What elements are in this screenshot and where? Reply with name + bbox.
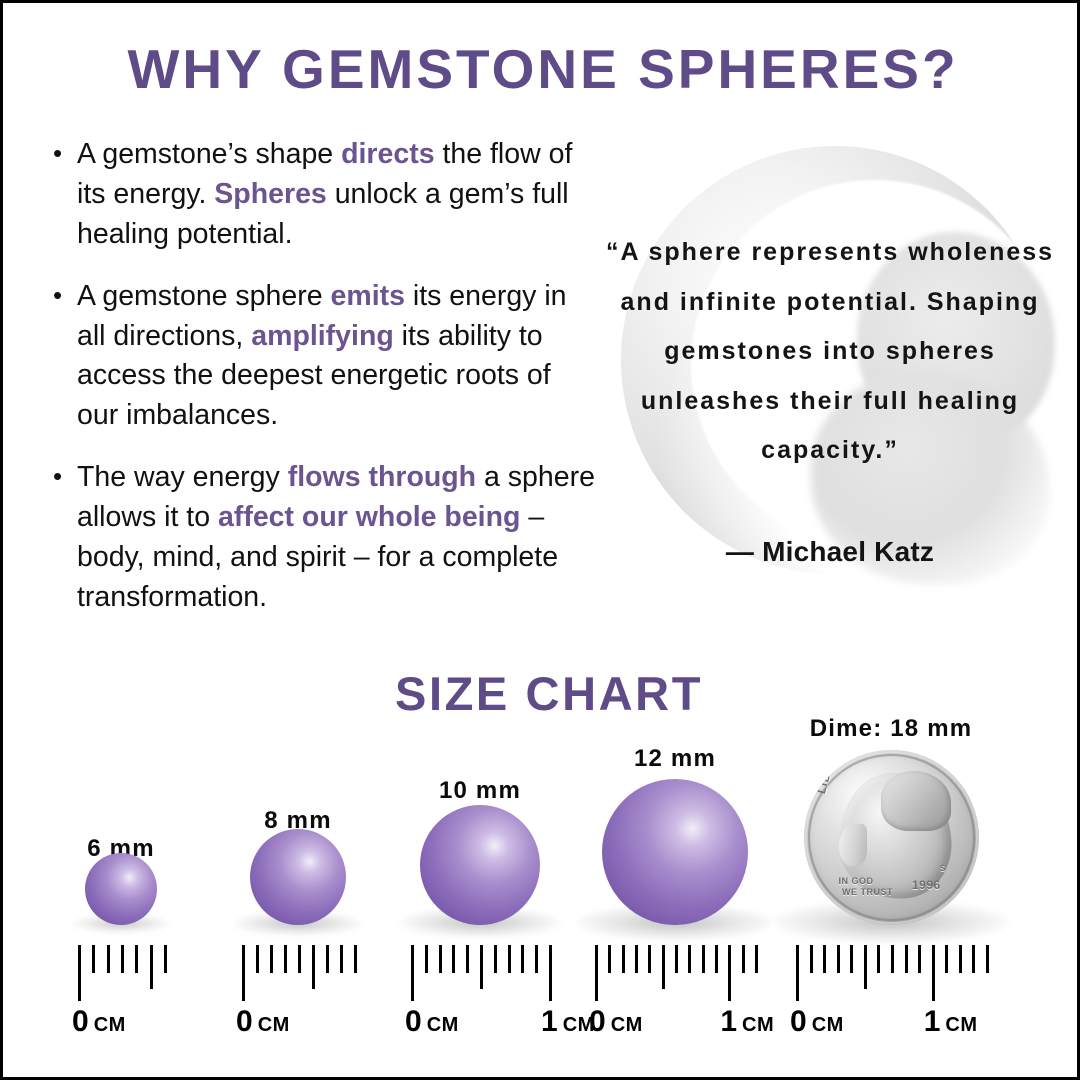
quote-text: “A sphere represents wholeness and infin… xyxy=(599,228,1061,476)
ruler-tick xyxy=(877,945,880,973)
bullet-highlight-text: Spheres xyxy=(214,178,326,210)
bullet-highlight-text: amplifying xyxy=(251,320,394,352)
ruler-label-one-number: 1 xyxy=(924,1005,941,1038)
ruler-tick xyxy=(411,945,414,1001)
ruler-tick xyxy=(135,945,138,973)
ruler-label-zero: 0CM xyxy=(405,1005,459,1039)
ruler-tick xyxy=(675,945,678,973)
ruler-tick xyxy=(439,945,442,973)
ruler-tick xyxy=(256,945,259,973)
infographic-canvas: WHY GEMSTONE SPHERES? •A gemstone’s shap… xyxy=(0,0,1080,1080)
ruler-tick xyxy=(164,945,167,973)
ruler-tick xyxy=(850,945,853,973)
bullet-marker-icon: • xyxy=(53,277,62,313)
ruler-label-zero-number: 0 xyxy=(236,1005,253,1038)
ruler-label-zero-unit: CM xyxy=(611,1014,643,1036)
benefits-bullet-list: •A gemstone’s shape directs the flow of … xyxy=(47,135,595,640)
ruler xyxy=(555,941,795,1001)
coin-portrait-hair xyxy=(881,771,951,831)
size-label: 12 mm xyxy=(555,745,795,773)
ruler-tick xyxy=(918,945,921,973)
ruler xyxy=(761,941,1021,1001)
ruler-tick xyxy=(535,945,538,973)
bullet-text: A gemstone sphere xyxy=(77,280,331,312)
ruler-label-zero-unit: CM xyxy=(94,1014,126,1036)
ruler-tick xyxy=(823,945,826,973)
ruler-tick xyxy=(622,945,625,973)
ruler-tick xyxy=(340,945,343,973)
ruler-tick xyxy=(284,945,287,973)
coin-year-text: 1996 xyxy=(912,878,941,892)
bullet-item: •A gemstone sphere emits its energy in a… xyxy=(47,277,595,437)
ruler-tick xyxy=(715,945,718,973)
bullet-highlight-text: affect our whole being xyxy=(218,501,520,533)
ruler-tick xyxy=(242,945,245,1001)
ruler-tick xyxy=(595,945,598,1001)
gemstone-sphere-graphic xyxy=(85,853,157,925)
ruler-tick xyxy=(92,945,95,973)
ruler-label-zero: 0CM xyxy=(72,1005,126,1039)
size-chart-row: 6 mm0CM8 mm0CM10 mm0CM1CM12 mm0CM1CMDime… xyxy=(3,693,1080,1079)
ruler-tick xyxy=(326,945,329,973)
bullet-highlight-text: emits xyxy=(331,280,405,312)
ruler-label-zero: 0CM xyxy=(790,1005,844,1039)
ruler-tick xyxy=(425,945,428,973)
ruler-label-zero: 0CM xyxy=(236,1005,290,1039)
ruler-label-zero-number: 0 xyxy=(72,1005,89,1038)
ruler-tick xyxy=(810,945,813,973)
dime-coin-graphic: LIBERTYIN GODWE TRUST1996S xyxy=(804,750,979,925)
ruler-tick xyxy=(688,945,691,973)
ruler-tick xyxy=(959,945,962,973)
ruler-label-one: 1CM xyxy=(924,1005,978,1039)
quote-attribution: — Michael Katz xyxy=(599,536,1061,568)
ruler-tick xyxy=(635,945,638,973)
ruler-tick xyxy=(608,945,611,973)
ruler-tick xyxy=(945,945,948,973)
coin-portrait-profile xyxy=(839,824,867,866)
ruler-label-zero: 0CM xyxy=(589,1005,643,1039)
ruler-tick xyxy=(466,945,469,973)
ruler-tick xyxy=(702,945,705,973)
ruler-tick xyxy=(864,945,867,989)
bullet-text: The way energy xyxy=(77,461,288,493)
bullet-highlight-text: flows through xyxy=(288,461,476,493)
size-chart-object-box xyxy=(555,779,795,925)
ruler-tick xyxy=(270,945,273,973)
ruler-tick xyxy=(662,945,665,989)
gemstone-sphere-graphic xyxy=(420,805,540,925)
size-chart-item: 6 mm0CM xyxy=(21,693,221,1079)
ruler-tick xyxy=(728,945,731,1001)
ruler-labels: 0CM1CM xyxy=(761,1005,1021,1045)
ruler-label-zero-number: 0 xyxy=(790,1005,807,1038)
ruler-tick xyxy=(121,945,124,973)
ruler-labels: 0CM xyxy=(21,1005,221,1045)
ruler-tick xyxy=(521,945,524,973)
ruler-tick xyxy=(742,945,745,973)
bullet-marker-icon: • xyxy=(53,458,62,494)
ruler-label-zero-unit: CM xyxy=(812,1014,844,1036)
size-chart-item: 12 mm0CM1CM xyxy=(555,693,795,1079)
bullet-marker-icon: • xyxy=(53,135,62,171)
gemstone-sphere-graphic xyxy=(250,829,346,925)
ruler-tick xyxy=(905,945,908,973)
coin-motto-line2: WE TRUST xyxy=(842,887,893,897)
size-chart-object-box xyxy=(21,853,221,925)
bullet-highlight-text: directs xyxy=(341,138,434,170)
ruler-tick xyxy=(452,945,455,973)
size-chart-object-box: LIBERTYIN GODWE TRUST1996S xyxy=(761,750,1021,925)
ruler-labels: 0CM1CM xyxy=(555,1005,795,1045)
ruler-label-one-number: 1 xyxy=(720,1005,737,1038)
ruler-label-one-unit: CM xyxy=(945,1014,977,1036)
ruler-tick xyxy=(648,945,651,973)
ruler-tick xyxy=(494,945,497,973)
ruler-tick xyxy=(549,945,552,1001)
ruler-tick xyxy=(932,945,935,1001)
ruler-label-zero-unit: CM xyxy=(427,1014,459,1036)
ruler-label-zero-number: 0 xyxy=(589,1005,606,1038)
ruler-tick xyxy=(354,945,357,973)
gemstone-sphere-graphic xyxy=(602,779,748,925)
ruler-tick xyxy=(986,945,989,973)
ruler-label-zero-number: 0 xyxy=(405,1005,422,1038)
ruler-tick xyxy=(298,945,301,973)
ruler-tick xyxy=(480,945,483,989)
ruler-label-zero-unit: CM xyxy=(258,1014,290,1036)
ruler-tick xyxy=(755,945,758,973)
ruler-tick xyxy=(508,945,511,973)
bullet-text: A gemstone’s shape xyxy=(77,138,341,170)
coin-mintmark-text: S xyxy=(940,864,945,873)
bullet-item: •A gemstone’s shape directs the flow of … xyxy=(47,135,595,255)
size-label: Dime: 18 mm xyxy=(761,715,1021,743)
coin-motto-line1: IN GOD xyxy=(839,876,874,886)
quote-panel: “A sphere represents wholeness and infin… xyxy=(599,136,1061,614)
ruler xyxy=(21,941,221,1001)
ruler-tick xyxy=(78,945,81,1001)
ruler-tick xyxy=(891,945,894,973)
ruler-tick xyxy=(837,945,840,973)
ruler-tick xyxy=(972,945,975,973)
bullet-item: •The way energy flows through a sphere a… xyxy=(47,458,595,618)
ruler-tick xyxy=(150,945,153,989)
page-title: WHY GEMSTONE SPHERES? xyxy=(3,37,1080,101)
ruler-tick xyxy=(312,945,315,989)
size-chart-item: Dime: 18 mmLIBERTYIN GODWE TRUST1996S0CM… xyxy=(761,693,1021,1079)
ruler-tick xyxy=(107,945,110,973)
ruler-tick xyxy=(796,945,799,1001)
